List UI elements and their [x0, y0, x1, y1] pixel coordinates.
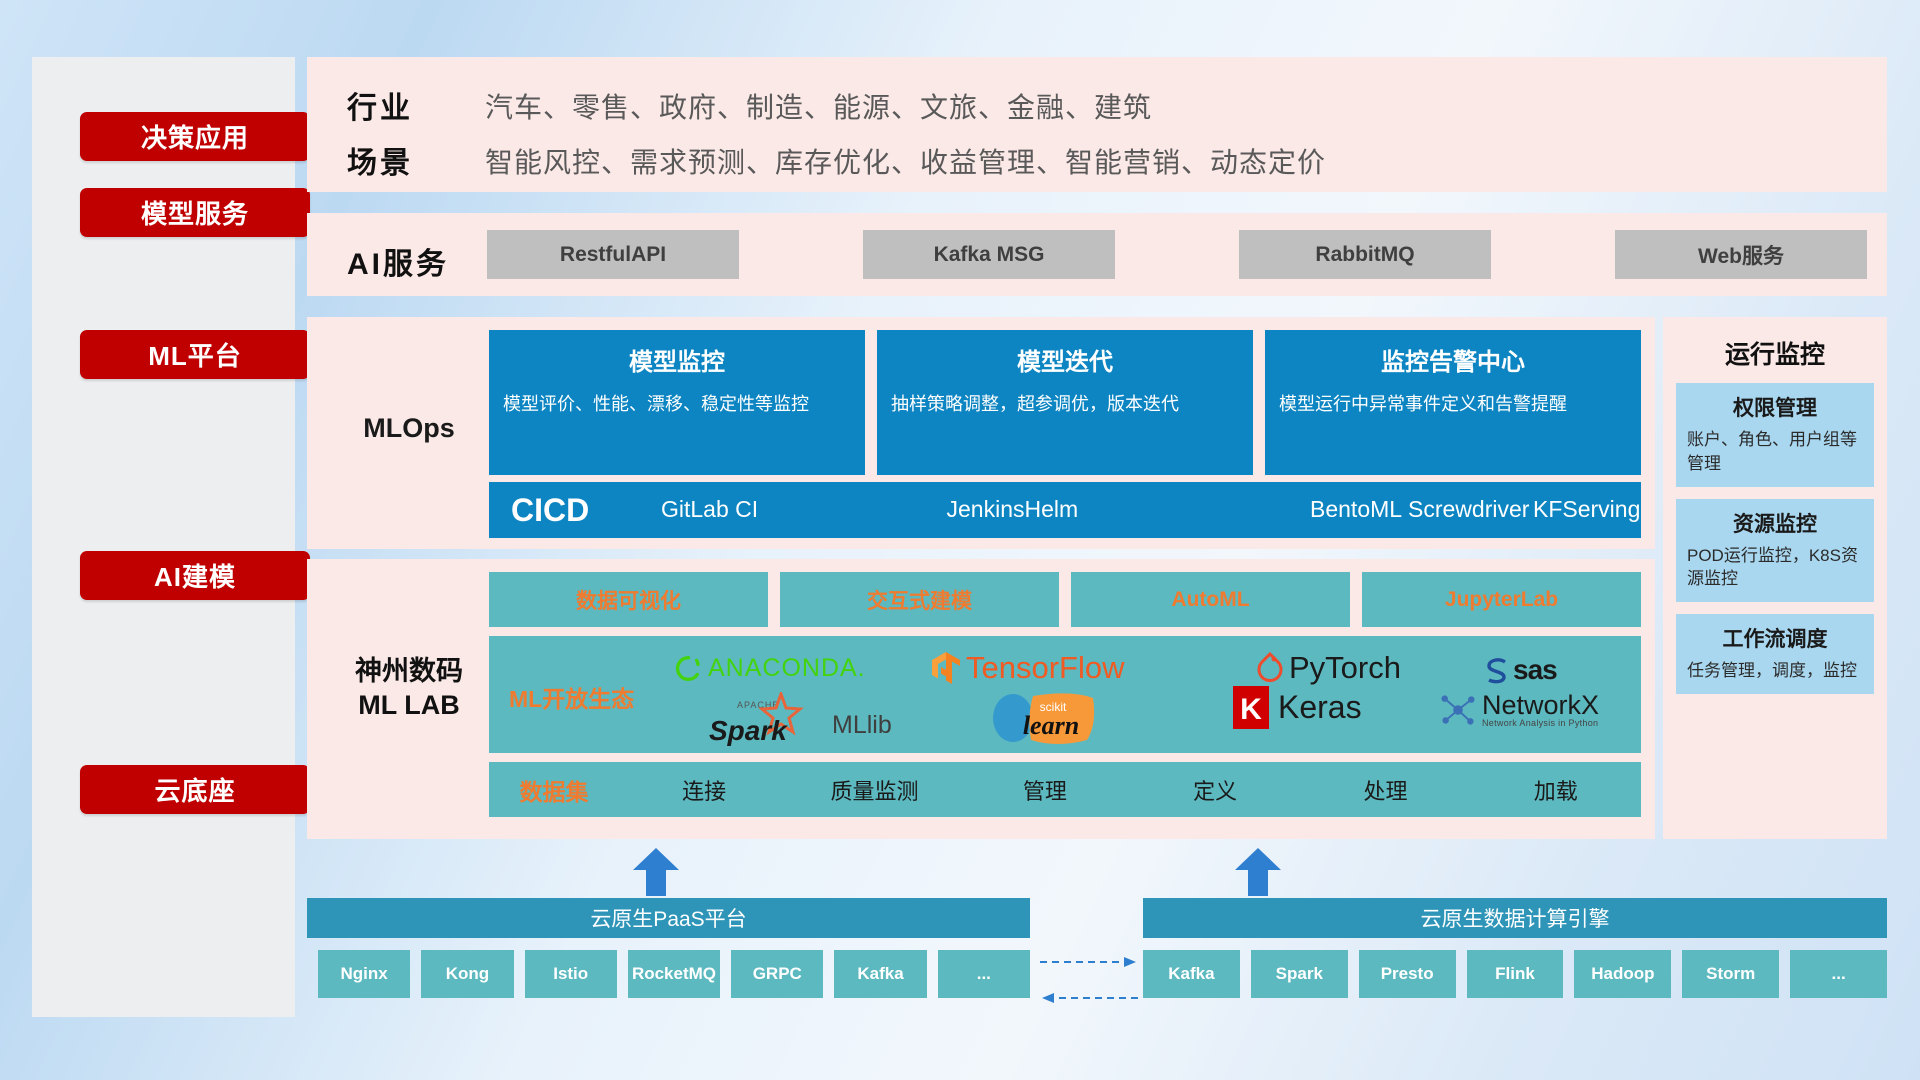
paas-chip-grpc[interactable]: GRPC: [731, 950, 823, 998]
ai-service-chip-web[interactable]: Web服务: [1615, 230, 1867, 279]
industry-label: 行业: [347, 83, 413, 127]
svg-text:K: K: [1240, 693, 1262, 726]
cicd-item-screwdriver[interactable]: Screwdriver: [1408, 494, 1533, 525]
ml-ecosystem-label: ML开放生态: [509, 680, 634, 714]
panel-card-body: POD运行监控，K8S资源监控: [1687, 544, 1863, 592]
panel-card-permission[interactable]: 权限管理 账户、角色、用户组等管理: [1676, 383, 1874, 487]
cicd-item-jenkins[interactable]: Jenkins: [947, 494, 1025, 525]
tensorflow-icon: [931, 651, 961, 685]
ai-service-chip-rabbitmq[interactable]: RabbitMQ: [1239, 230, 1491, 279]
mlops-card-desc: 模型评价、性能、漂移、稳定性等监控: [503, 391, 851, 417]
anaconda-wordmark: ANACONDA.: [708, 654, 866, 683]
ml-lab-band: 神州数码 ML LAB 数据可视化 交互式建模 AutoML JupyterLa…: [307, 559, 1655, 839]
tensorflow-logo: TensorFlow: [931, 650, 1125, 686]
networkx-icon: [1439, 691, 1477, 729]
connector-dashed-arrows: [1040, 950, 1138, 1010]
keras-icon: K: [1233, 686, 1269, 729]
paas-chip-kong[interactable]: Kong: [421, 950, 513, 998]
anaconda-logo: ANACONDA.: [675, 654, 866, 683]
dataset-row: 数据集 连接 质量监测 管理 定义 处理 加载: [489, 762, 1641, 817]
engine-chip-row: Kafka Spark Presto Flink Hadoop Storm ..…: [1143, 950, 1887, 998]
cicd-row: CICD GitLab CI Jenkins Helm BentoML Scre…: [489, 482, 1641, 538]
scenario-list: 智能风控、需求预测、库存优化、收益管理、智能营销、动态定价: [485, 141, 1326, 181]
dataset-item-load[interactable]: 加载: [1471, 774, 1641, 806]
engine-chip-kafka[interactable]: Kafka: [1143, 950, 1240, 998]
arrow-up-paas: [633, 848, 679, 896]
engine-chip-flink[interactable]: Flink: [1467, 950, 1564, 998]
networkx-tagline: Network Analysis in Python: [1482, 719, 1599, 728]
sas-wordmark: sas: [1513, 654, 1557, 686]
data-engine-bar[interactable]: 云原生数据计算引擎: [1143, 898, 1887, 938]
paas-platform-bar[interactable]: 云原生PaaS平台: [307, 898, 1030, 938]
sas-logo: sas: [1484, 654, 1557, 686]
ml-lab-tool-row: 数据可视化 交互式建模 AutoML JupyterLab: [489, 572, 1641, 627]
architecture-diagram: 决策应用 模型服务 ML平台 AI建模 云底座 行业 汽车、零售、政府、制造、能…: [0, 0, 1920, 1080]
dataset-item-manage[interactable]: 管理: [960, 774, 1130, 806]
paas-chip-row: Nginx Kong Istio RocketMQ GRPC Kafka ...: [318, 950, 1030, 998]
svg-text:Spark: Spark: [709, 715, 788, 746]
ml-ecosystem-logos: ANACONDA. TensorFlow: [649, 636, 1637, 753]
pytorch-icon: [1257, 652, 1283, 684]
sas-icon: [1484, 657, 1510, 684]
tool-automl[interactable]: AutoML: [1071, 572, 1350, 627]
rail-item-ml-platform[interactable]: ML平台: [80, 330, 310, 379]
panel-card-title: 资源监控: [1687, 508, 1863, 538]
ai-service-chip-kafka-msg[interactable]: Kafka MSG: [863, 230, 1115, 279]
paas-chip-kafka[interactable]: Kafka: [834, 950, 926, 998]
ai-service-band: AI服务 RestfulAPI Kafka MSG RabbitMQ Web服务: [307, 213, 1887, 296]
spark-icon: APACHE Spark: [707, 692, 825, 746]
cicd-item-kfserving[interactable]: KFServing: [1533, 494, 1641, 525]
anaconda-icon: [675, 655, 702, 682]
tool-jupyterlab[interactable]: JupyterLab: [1362, 572, 1641, 627]
scenario-label: 场景: [347, 138, 413, 182]
dataset-item-quality[interactable]: 质量监测: [789, 774, 959, 806]
mlops-card-title: 模型监控: [503, 342, 851, 377]
industry-list: 汽车、零售、政府、制造、能源、文旅、金融、建筑: [485, 86, 1152, 126]
pytorch-wordmark: PyTorch: [1289, 650, 1401, 686]
dataset-label: 数据集: [489, 773, 619, 807]
tool-interactive-modeling[interactable]: 交互式建模: [780, 572, 1059, 627]
spark-mllib-logo: APACHE Spark MLlib: [707, 692, 892, 746]
ml-lab-area: 数据可视化 交互式建模 AutoML JupyterLab ML开放生态 ANA…: [489, 572, 1641, 826]
rail-item-decision-app[interactable]: 决策应用: [80, 112, 310, 161]
panel-card-title: 权限管理: [1687, 392, 1863, 422]
ml-ecosystem-panel: ML开放生态 ANACONDA.: [489, 636, 1641, 753]
ai-service-chip-row: RestfulAPI Kafka MSG RabbitMQ Web服务: [487, 230, 1867, 279]
tensorflow-wordmark: TensorFlow: [966, 650, 1125, 686]
paas-chip-more[interactable]: ...: [938, 950, 1030, 998]
mlops-area: 模型监控 模型评价、性能、漂移、稳定性等监控 模型迭代 抽样策略调整，超参调优，…: [489, 330, 1641, 538]
cicd-item-helm[interactable]: Helm: [1025, 494, 1311, 525]
engine-chip-storm[interactable]: Storm: [1682, 950, 1779, 998]
engine-chip-hadoop[interactable]: Hadoop: [1574, 950, 1671, 998]
engine-chip-more[interactable]: ...: [1790, 950, 1887, 998]
networkx-wordmark: NetworkX: [1482, 692, 1599, 719]
mllib-wordmark: MLlib: [832, 711, 892, 740]
left-rail: 决策应用 模型服务 ML平台 AI建模 云底座: [32, 57, 295, 1017]
ai-service-label: AI服务: [347, 239, 449, 283]
dataset-item-process[interactable]: 处理: [1300, 774, 1470, 806]
mlops-card-model-iteration[interactable]: 模型迭代 抽样策略调整，超参调优，版本迭代: [877, 330, 1253, 475]
keras-logo: K Keras: [1233, 686, 1362, 729]
mlops-card-desc: 模型运行中异常事件定义和告警提醒: [1279, 391, 1627, 417]
dataset-item-define[interactable]: 定义: [1130, 774, 1300, 806]
runtime-monitoring-panel: 运行监控 权限管理 账户、角色、用户组等管理 资源监控 POD运行监控，K8S资…: [1663, 317, 1887, 839]
panel-card-body: 任务管理，调度，监控: [1687, 659, 1863, 683]
mlops-band: MLOps 模型监控 模型评价、性能、漂移、稳定性等监控 模型迭代 抽样策略调整…: [307, 317, 1655, 549]
svg-text:learn: learn: [1023, 711, 1079, 740]
mlops-card-model-monitoring[interactable]: 模型监控 模型评价、性能、漂移、稳定性等监控: [489, 330, 865, 475]
panel-card-body: 账户、角色、用户组等管理: [1687, 428, 1863, 476]
industry-scenario-band: 行业 汽车、零售、政府、制造、能源、文旅、金融、建筑 场景 智能风控、需求预测、…: [307, 57, 1887, 192]
scikit-learn-logo: scikit learn: [987, 684, 1115, 751]
paas-chip-istio[interactable]: Istio: [525, 950, 617, 998]
ml-lab-label-line2: ML LAB: [329, 689, 489, 723]
paas-chip-rocketmq[interactable]: RocketMQ: [628, 950, 720, 998]
keras-wordmark: Keras: [1278, 689, 1362, 726]
mlops-card-alert-center[interactable]: 监控告警中心 模型运行中异常事件定义和告警提醒: [1265, 330, 1641, 475]
engine-chip-presto[interactable]: Presto: [1359, 950, 1456, 998]
mlops-card-desc: 抽样策略调整，超参调优，版本迭代: [891, 391, 1239, 417]
scikit-learn-icon: scikit learn: [987, 684, 1115, 746]
panel-card-resource[interactable]: 资源监控 POD运行监控，K8S资源监控: [1676, 499, 1874, 603]
rail-item-model-service[interactable]: 模型服务: [80, 188, 310, 237]
mlops-card-title: 模型迭代: [891, 342, 1239, 377]
tool-data-visualization[interactable]: 数据可视化: [489, 572, 768, 627]
ml-lab-label: 神州数码 ML LAB: [329, 655, 489, 723]
mlops-card-row: 模型监控 模型评价、性能、漂移、稳定性等监控 模型迭代 抽样策略调整，超参调优，…: [489, 330, 1641, 475]
cicd-title: CICD: [511, 492, 661, 529]
panel-card-workflow[interactable]: 工作流调度 任务管理，调度，监控: [1676, 614, 1874, 694]
networkx-logo: NetworkX Network Analysis in Python: [1439, 691, 1599, 729]
arrow-up-engine: [1235, 848, 1281, 896]
cicd-item-bentoml[interactable]: BentoML: [1310, 494, 1408, 525]
cicd-item-gitlab-ci[interactable]: GitLab CI: [661, 494, 947, 525]
rail-item-ai-modeling[interactable]: AI建模: [80, 551, 310, 600]
pytorch-logo: PyTorch: [1257, 650, 1401, 686]
rail-item-cloud-base[interactable]: 云底座: [80, 765, 310, 814]
ai-service-chip-restfulapi[interactable]: RestfulAPI: [487, 230, 739, 279]
panel-card-title: 工作流调度: [1687, 623, 1863, 653]
runtime-monitoring-title: 运行监控: [1663, 317, 1887, 371]
dataset-item-connect[interactable]: 连接: [619, 774, 789, 806]
engine-chip-spark[interactable]: Spark: [1251, 950, 1348, 998]
mlops-card-title: 监控告警中心: [1279, 342, 1627, 377]
paas-chip-nginx[interactable]: Nginx: [318, 950, 410, 998]
mlops-label: MLOps: [329, 413, 489, 445]
ml-lab-label-line1: 神州数码: [329, 655, 489, 689]
